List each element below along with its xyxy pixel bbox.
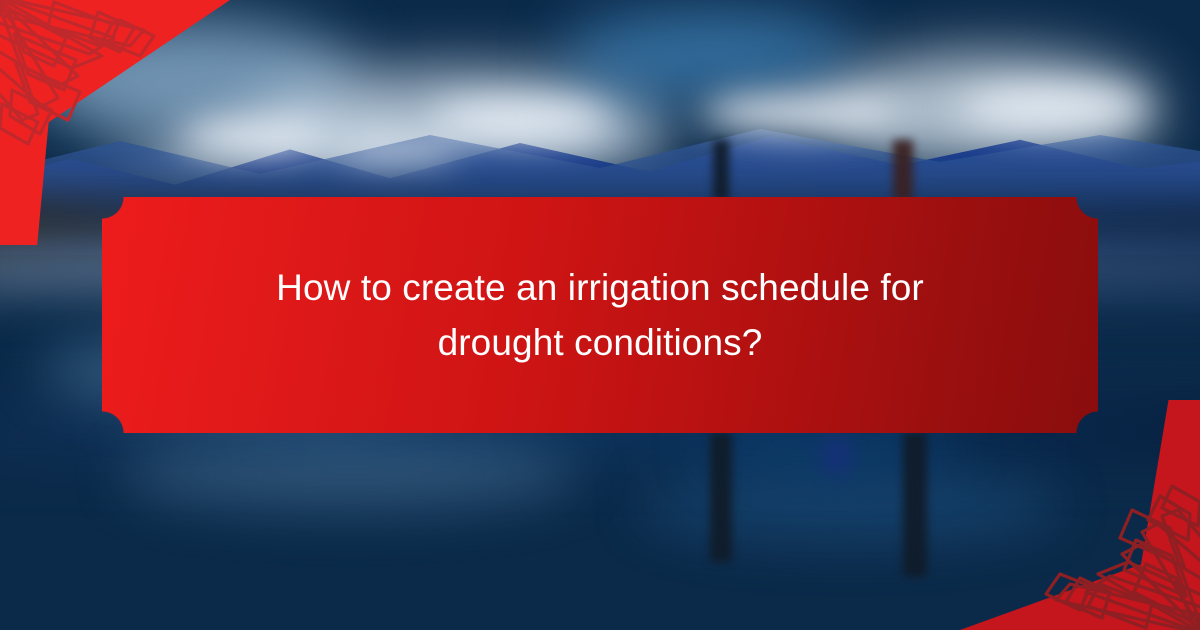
snow-cap	[330, 135, 460, 165]
snow-cap	[960, 88, 1150, 128]
cloud-blob	[560, 10, 860, 100]
dock-pole	[710, 432, 732, 562]
water-highlight	[640, 470, 1060, 540]
title-banner: How to create an irrigation schedule for…	[102, 197, 1098, 433]
snow-cap	[180, 118, 330, 156]
snow-cap	[700, 92, 900, 134]
snow-cap	[430, 100, 610, 140]
buoy-marker	[822, 436, 852, 476]
dock-pole	[713, 140, 729, 202]
hero-card: How to create an irrigation schedule for…	[0, 0, 1200, 630]
dock-pole	[903, 432, 927, 577]
water-highlight	[120, 440, 580, 510]
page-title: How to create an irrigation schedule for…	[250, 260, 950, 371]
dock-pole	[893, 140, 913, 202]
